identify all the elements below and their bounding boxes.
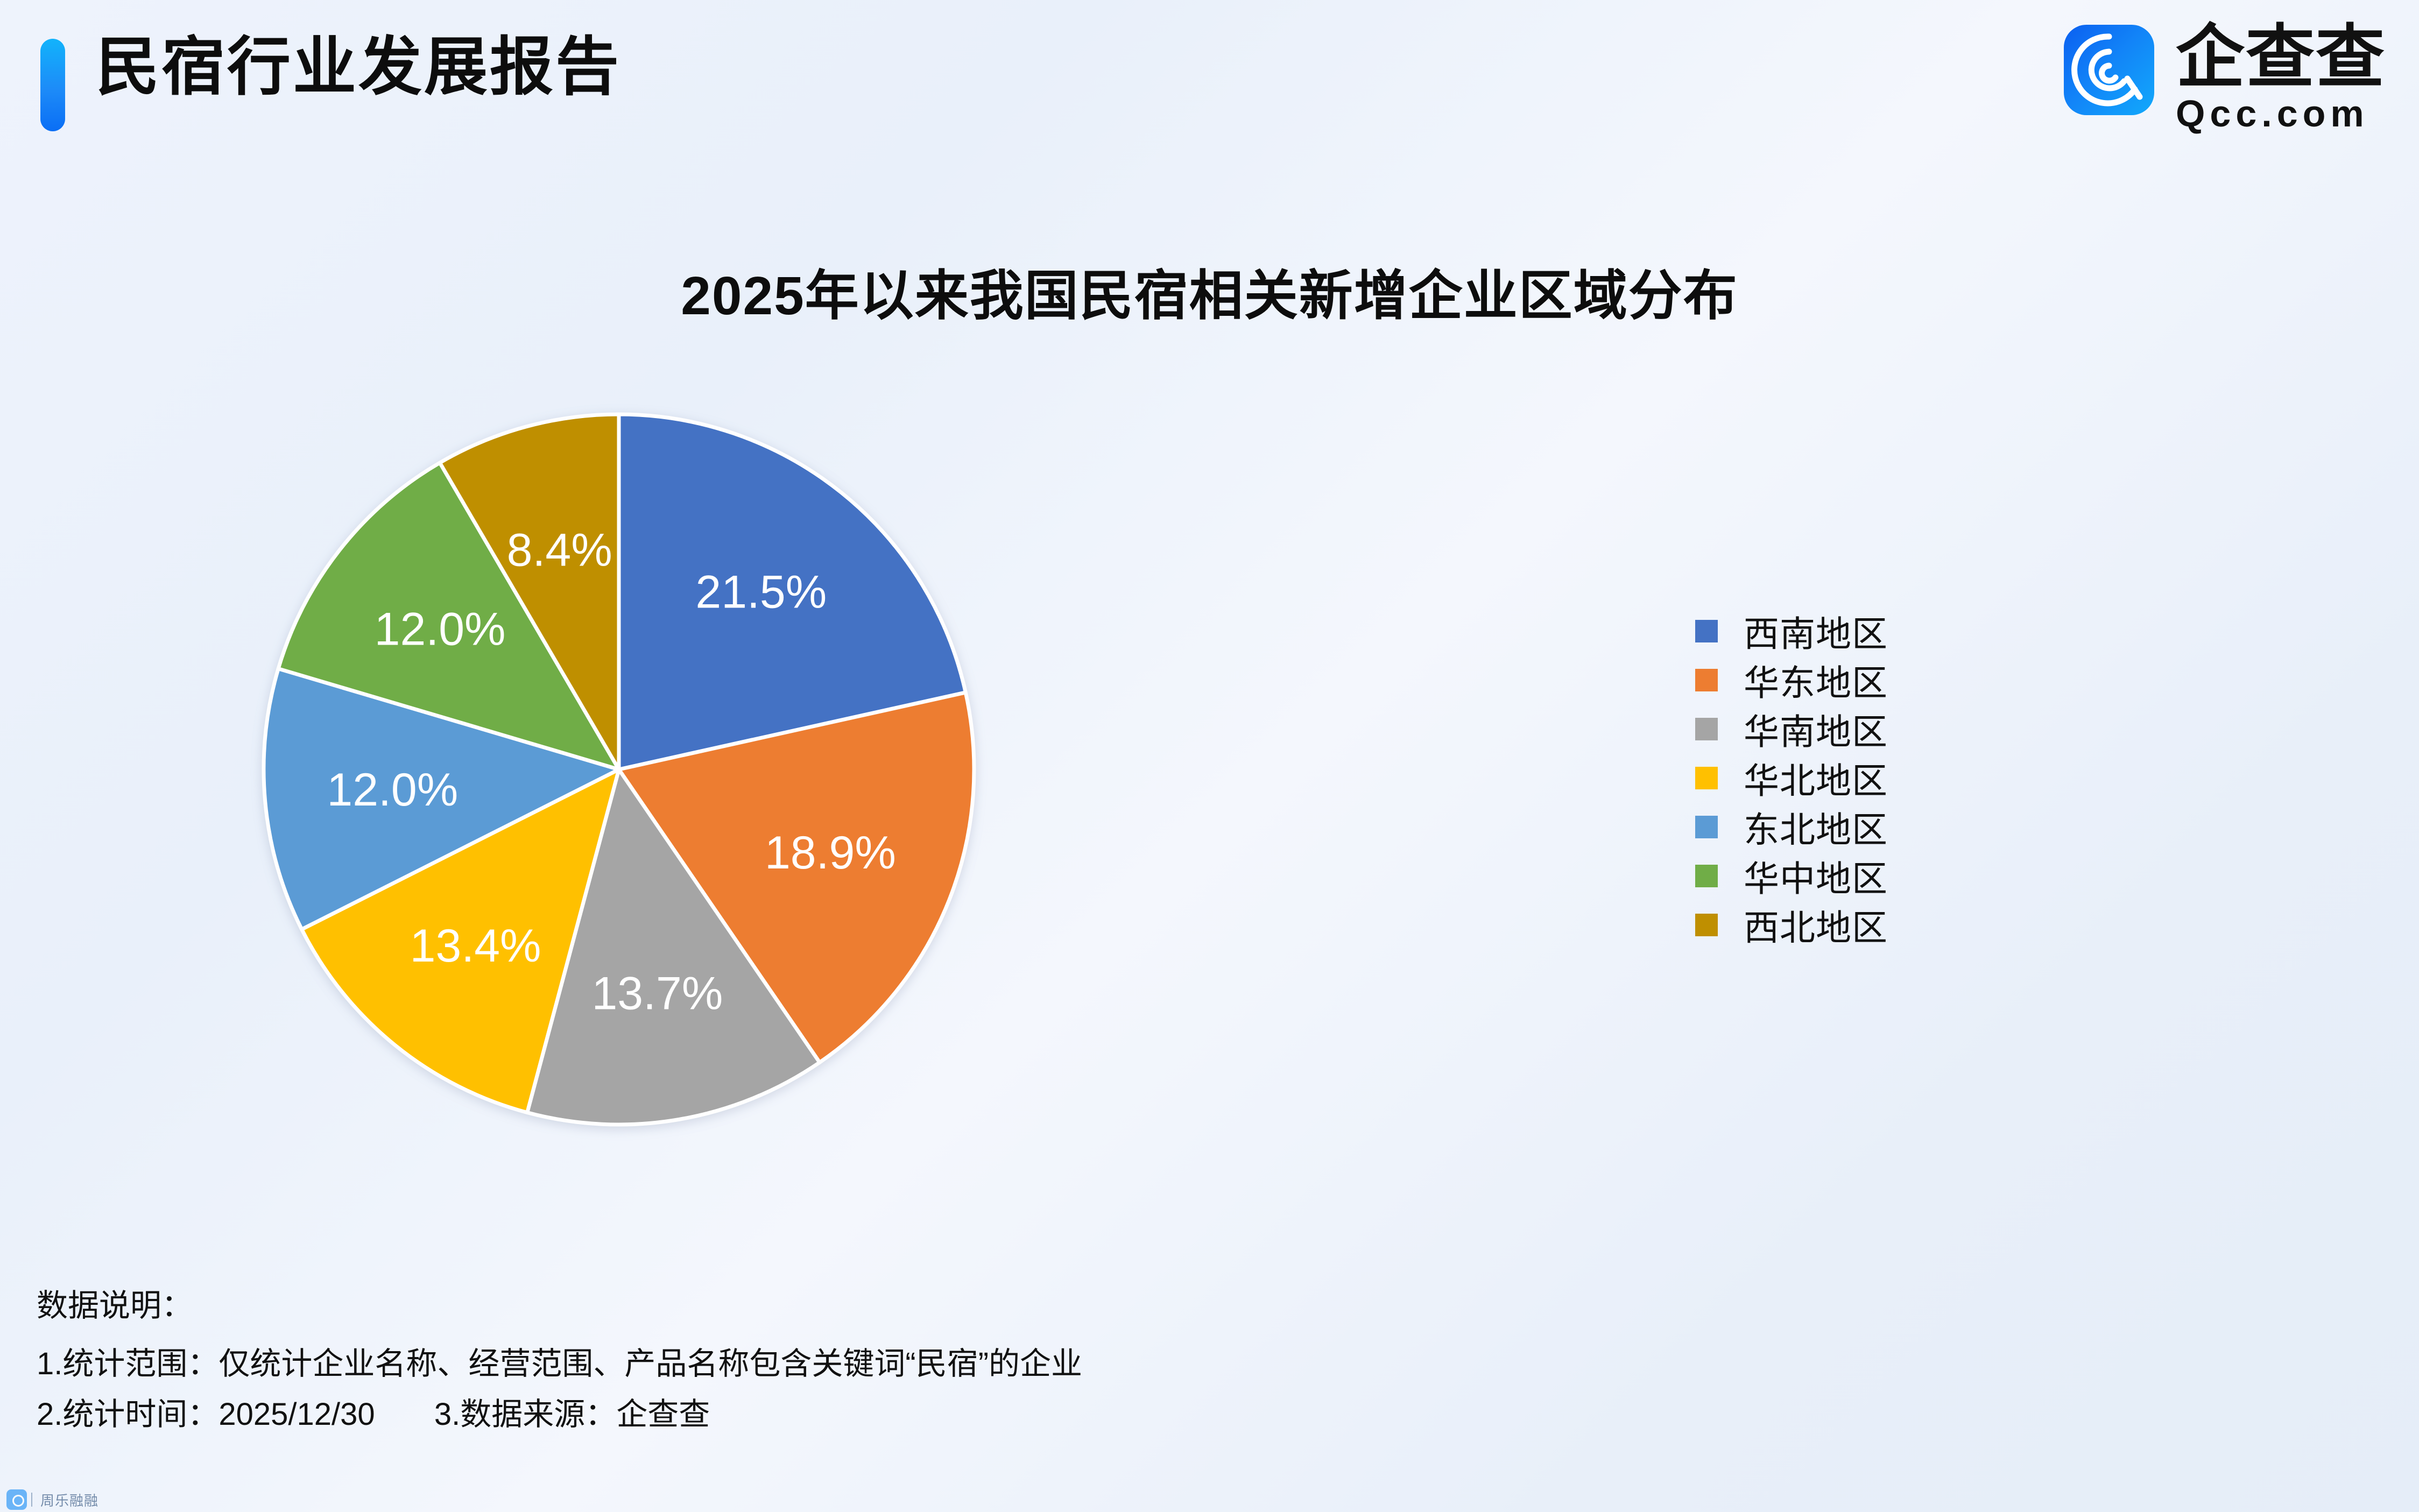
- legend-item-label: 西北地区: [1744, 899, 1888, 951]
- notes-statistic-time: 2.统计时间：2025/12/30: [37, 1397, 375, 1432]
- pie-slice-label: 13.7%: [591, 967, 723, 1019]
- legend-color-swatch: [1695, 718, 1718, 740]
- legend-item[interactable]: 华北地区: [1695, 754, 1888, 802]
- watermark-text: 周乐融融: [40, 1490, 98, 1510]
- legend-color-swatch: [1695, 767, 1718, 789]
- chart-legend: 西南地区华东地区华南地区华北地区东北地区华中地区西北地区: [1695, 607, 1888, 950]
- legend-color-swatch: [1695, 669, 1718, 691]
- watermark-icon: [6, 1489, 27, 1510]
- legend-item-label: 华南地区: [1744, 703, 1888, 755]
- legend-item-label: 华北地区: [1744, 752, 1888, 804]
- pie-chart: 21.5%18.9%13.7%13.4%12.0%12.0%8.4%: [258, 409, 979, 1130]
- legend-color-swatch: [1695, 914, 1718, 936]
- pie-slice-label: 21.5%: [695, 567, 827, 618]
- title-accent-bar: [40, 39, 65, 131]
- legend-item[interactable]: 东北地区: [1695, 803, 1888, 851]
- data-notes: 数据说明： 1.统计范围：仅统计企业名称、经营范围、产品名称包含关键词“民宿”的…: [37, 1281, 1974, 1440]
- pie-slice-label: 18.9%: [765, 827, 896, 879]
- legend-color-swatch: [1695, 816, 1718, 838]
- legend-item-label: 西南地区: [1744, 605, 1888, 657]
- brand-logo: 企查查 Qcc.com: [2064, 23, 2386, 130]
- notes-line-1: 1.统计范围：仅统计企业名称、经营范围、产品名称包含关键词“民宿”的企业: [37, 1339, 1974, 1389]
- pie-slice-label: 12.0%: [327, 764, 458, 816]
- notes-line-2: 2.统计时间：2025/12/30 3.数据来源：企查查: [37, 1389, 1974, 1440]
- pie-slice-label: 8.4%: [507, 524, 612, 576]
- notes-heading: 数据说明：: [37, 1281, 1974, 1331]
- notes-data-source: 3.数据来源：企查查: [434, 1397, 710, 1432]
- brand-name-cn: 企查查: [2176, 23, 2386, 93]
- legend-item[interactable]: 华东地区: [1695, 656, 1888, 704]
- pie-slice-label: 13.4%: [410, 920, 541, 972]
- page-header: 民宿行业发展报告 企查查 Qcc.com: [0, 0, 2419, 161]
- legend-item[interactable]: 华中地区: [1695, 852, 1888, 900]
- page-title: 民宿行业发展报告: [96, 31, 621, 104]
- brand-domain: Qcc.com: [2176, 94, 2386, 134]
- legend-item-label: 华中地区: [1744, 850, 1888, 902]
- legend-item-label: 华东地区: [1744, 654, 1888, 706]
- watermark-divider: [31, 1493, 32, 1507]
- watermark: 周乐融融: [6, 1489, 98, 1510]
- pie-slice-label: 12.0%: [375, 603, 506, 655]
- chart-title: 2025年以来我国民宿相关新增企业区域分布: [0, 252, 2419, 330]
- legend-item[interactable]: 西北地区: [1695, 901, 1888, 949]
- legend-item[interactable]: 西南地区: [1695, 607, 1888, 655]
- legend-color-swatch: [1695, 620, 1718, 642]
- legend-item[interactable]: 华南地区: [1695, 705, 1888, 753]
- legend-color-swatch: [1695, 865, 1718, 887]
- brand-logo-text: 企查查 Qcc.com: [2176, 23, 2386, 133]
- legend-item-label: 东北地区: [1744, 801, 1888, 853]
- qcc-logo-mark-icon: [2064, 25, 2154, 115]
